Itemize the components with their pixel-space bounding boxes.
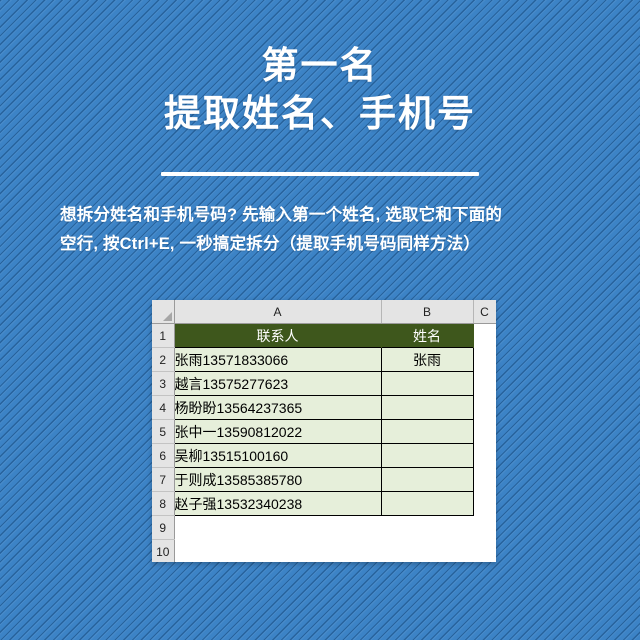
row-header-7[interactable]: 7 [152,468,174,492]
body-copy-line-1: 想拆分姓名和手机号码? 先输入第一个姓名, 选取它和下面的 [60,201,582,230]
cell-c6[interactable] [473,444,496,468]
table-row[interactable]: 2 张雨13571833066 张雨 [152,348,496,372]
spreadsheet-grid[interactable]: A B C 1 联系人 姓名 2 张雨13571833066 张雨 3 越言13… [152,300,496,562]
row-header-8[interactable]: 8 [152,492,174,516]
cell-a3[interactable]: 越言13575277623 [174,372,381,396]
cell-b8[interactable] [381,492,473,516]
cell-a8[interactable]: 赵子强13532340238 [174,492,381,516]
title-block: 第一名 提取姓名、手机号 [0,44,640,135]
table-row[interactable]: 6 吴柳13515100160 [152,444,496,468]
cell-a9[interactable] [174,516,381,540]
cell-b5[interactable] [381,420,473,444]
cell-b9[interactable] [381,516,473,540]
cell-b3[interactable] [381,372,473,396]
title-divider [161,172,479,176]
poster-canvas: 第一名 提取姓名、手机号 想拆分姓名和手机号码? 先输入第一个姓名, 选取它和下… [0,0,640,640]
cell-a5[interactable]: 张中一13590812022 [174,420,381,444]
column-header-b[interactable]: B [381,300,473,324]
cell-b7[interactable] [381,468,473,492]
table-row[interactable]: 8 赵子强13532340238 [152,492,496,516]
row-header-5[interactable]: 5 [152,420,174,444]
cell-b10[interactable] [381,540,473,563]
title-line-2: 提取姓名、手机号 [0,92,640,136]
row-header-2[interactable]: 2 [152,348,174,372]
cell-c5[interactable] [473,420,496,444]
table-row[interactable]: 4 杨盼盼13564237365 [152,396,496,420]
cell-b6[interactable] [381,444,473,468]
table-row[interactable]: 1 联系人 姓名 [152,324,496,348]
row-header-10[interactable]: 10 [152,540,174,563]
cell-b1[interactable]: 姓名 [381,324,473,348]
select-all-corner[interactable] [152,300,174,324]
row-header-3[interactable]: 3 [152,372,174,396]
cell-c8[interactable] [473,492,496,516]
cell-a1[interactable]: 联系人 [174,324,381,348]
table-row[interactable]: 5 张中一13590812022 [152,420,496,444]
table-row[interactable]: 9 [152,516,496,540]
spreadsheet-panel[interactable]: A B C 1 联系人 姓名 2 张雨13571833066 张雨 3 越言13… [152,300,496,562]
cell-a2[interactable]: 张雨13571833066 [174,348,381,372]
table-row[interactable]: 10 [152,540,496,563]
row-header-9[interactable]: 9 [152,516,174,540]
cell-c9[interactable] [473,516,496,540]
cell-a6[interactable]: 吴柳13515100160 [174,444,381,468]
select-all-triangle-icon [163,312,172,321]
table-row[interactable]: 3 越言13575277623 [152,372,496,396]
cell-c10[interactable] [473,540,496,563]
row-header-4[interactable]: 4 [152,396,174,420]
cell-a4[interactable]: 杨盼盼13564237365 [174,396,381,420]
cell-a10[interactable] [174,540,381,563]
row-header-6[interactable]: 6 [152,444,174,468]
cell-b2[interactable]: 张雨 [381,348,473,372]
cell-b4[interactable] [381,396,473,420]
cell-c1[interactable] [473,324,496,348]
cell-a7[interactable]: 于则成13585385780 [174,468,381,492]
row-header-1[interactable]: 1 [152,324,174,348]
body-copy-line-2: 空行, 按Ctrl+E, 一秒搞定拆分（提取手机号码同样方法） [60,230,582,259]
body-copy: 想拆分姓名和手机号码? 先输入第一个姓名, 选取它和下面的 空行, 按Ctrl+… [60,201,582,259]
cell-c2[interactable] [473,348,496,372]
cell-c3[interactable] [473,372,496,396]
column-header-a[interactable]: A [174,300,381,324]
column-header-c[interactable]: C [473,300,496,324]
cell-c7[interactable] [473,468,496,492]
title-line-1: 第一名 [0,44,640,88]
column-header-row: A B C [152,300,496,324]
cell-c4[interactable] [473,396,496,420]
table-row[interactable]: 7 于则成13585385780 [152,468,496,492]
